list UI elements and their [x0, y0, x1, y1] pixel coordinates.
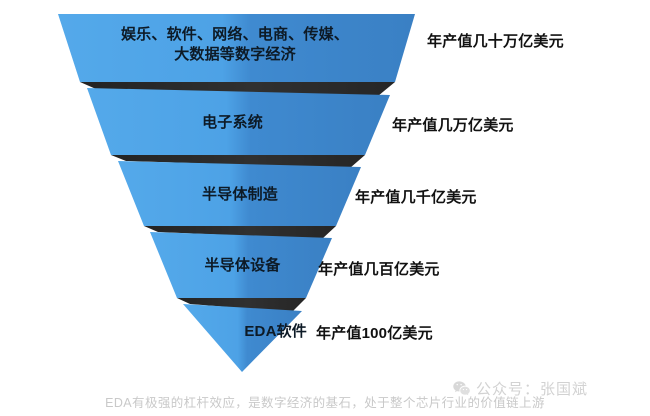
- funnel-diagram: 娱乐、软件、网络、电商、传媒、 大数据等数字经济 电子系统 半导体制造 半导体设…: [0, 0, 650, 416]
- watermark-text: 公众号：张国斌: [476, 378, 588, 399]
- funnel-value-5: 年产值100亿美元: [316, 322, 433, 343]
- funnel-value-2: 年产值几万亿美元: [392, 114, 514, 135]
- funnel-graphic: [0, 0, 650, 416]
- funnel-layer-3-shape: [118, 161, 361, 226]
- funnel-value-1: 年产值几十万亿美元: [427, 30, 564, 51]
- funnel-value-3: 年产值几千亿美元: [355, 186, 477, 207]
- funnel-layer-1-shape: [58, 14, 415, 82]
- funnel-layer-2-shape: [87, 88, 390, 155]
- watermark: 公众号：张国斌: [452, 378, 588, 399]
- funnel-layer-4-shape: [150, 232, 332, 298]
- wechat-icon: [452, 379, 471, 398]
- funnel-layer-5-shape: [183, 304, 302, 372]
- funnel-value-4: 年产值几百亿美元: [318, 258, 440, 279]
